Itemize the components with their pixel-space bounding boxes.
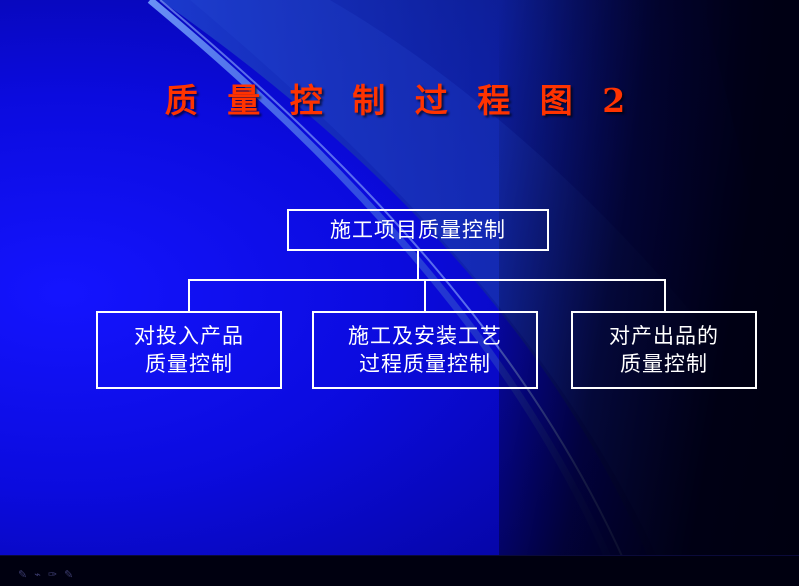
org-chart: 施工项目质量控制 对投入产品 质量控制 施工及安装工艺 过程质量控制 对产出品的… xyxy=(0,0,799,586)
shape-icon[interactable]: ⌁ xyxy=(34,569,41,580)
pencil-icon[interactable]: ✎ xyxy=(18,569,27,580)
presentation-slide: 质 量 控 制 过 程 图 2 施工项目质量控制 对投入产品 质量控制 施工及安… xyxy=(0,0,799,586)
connector-child-1-vertical xyxy=(188,279,190,311)
node-root: 施工项目质量控制 xyxy=(287,209,549,251)
connector-horizontal-bus xyxy=(188,279,666,281)
node-child-3: 对产出品的 质量控制 xyxy=(571,311,757,389)
arrow-icon[interactable]: ✑ xyxy=(48,569,57,580)
connector-root-vertical xyxy=(417,251,419,280)
node-child-2: 施工及安装工艺 过程质量控制 xyxy=(312,311,538,389)
pencil-icon-2[interactable]: ✎ xyxy=(64,569,73,580)
footer-icon-group: ✎ ⌁ ✑ ✎ xyxy=(18,569,73,580)
footer-bar xyxy=(0,555,799,586)
connector-child-3-vertical xyxy=(664,279,666,311)
node-child-1: 对投入产品 质量控制 xyxy=(96,311,282,389)
connector-child-2-vertical xyxy=(424,279,426,311)
